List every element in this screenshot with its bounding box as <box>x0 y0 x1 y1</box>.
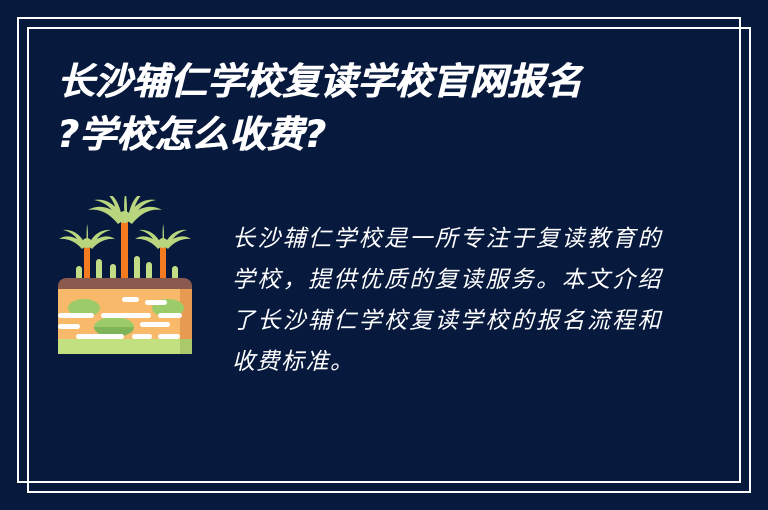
palm-tree-oasis-illustration <box>58 196 192 354</box>
title-line-2: ?学校怎么收费? <box>57 108 697 161</box>
title-line-1: 长沙辅仁学校复读学校官网报名 <box>57 55 697 108</box>
palm-right <box>135 224 191 280</box>
content-row: 长沙辅仁学校是一所专注于复读教育的学校，提供优质的复读服务。本文介绍了长沙辅仁学… <box>0 196 768 406</box>
body-paragraph: 长沙辅仁学校是一所专注于复读教育的学校，提供优质的复读服务。本文介绍了长沙辅仁学… <box>232 219 662 383</box>
sand-block <box>58 278 192 354</box>
palm-tree-oasis-icon <box>58 196 192 354</box>
page-title: 长沙辅仁学校复读学校官网报名 ?学校怎么收费? <box>57 55 697 161</box>
poster-canvas: 长沙辅仁学校复读学校官网报名 ?学校怎么收费? <box>0 0 768 510</box>
palm-left <box>59 224 115 280</box>
